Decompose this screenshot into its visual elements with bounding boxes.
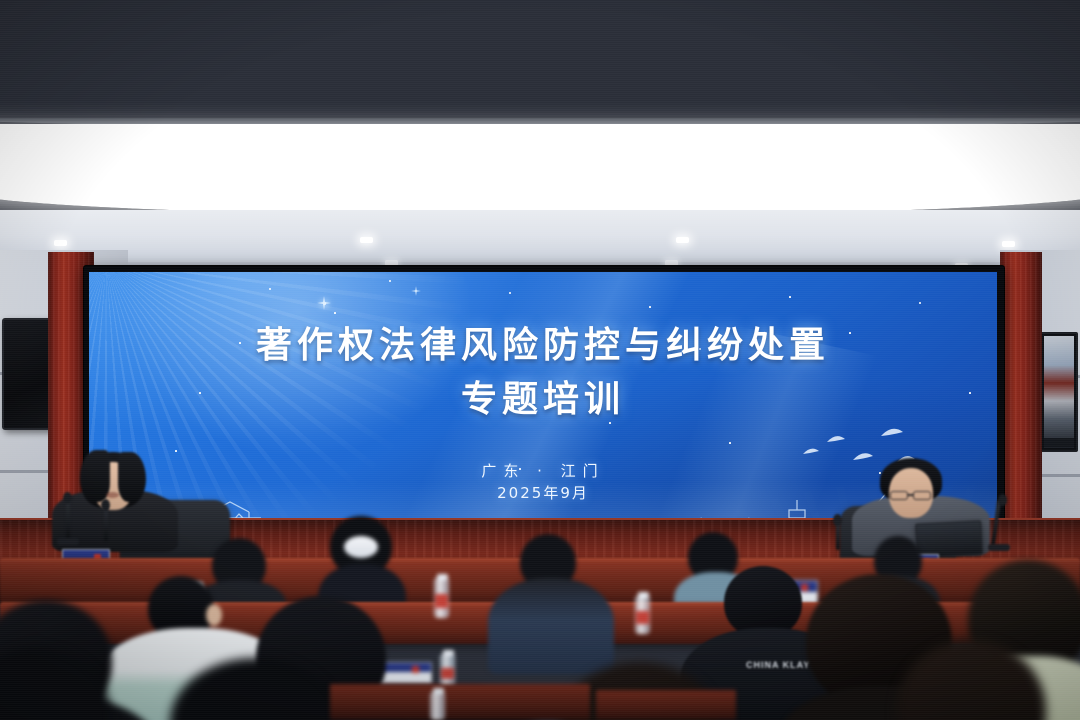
bottle-cap bbox=[433, 688, 444, 694]
audience-bench-front bbox=[330, 684, 590, 720]
screen-title-line-2: 专题培训 bbox=[89, 370, 997, 422]
microphone-base bbox=[988, 544, 1010, 551]
ceiling-downlight bbox=[676, 237, 689, 243]
ear bbox=[206, 604, 222, 626]
audience-bench-front bbox=[596, 690, 736, 720]
bottle-cap bbox=[443, 650, 454, 656]
wall-display-caption bbox=[1044, 438, 1074, 447]
ceiling-upper-surface bbox=[0, 0, 1080, 120]
conference-photo-scene: 著作权法律风险防控与纠纷处置 专题培训 广东 · 江门 2025年9月 bbox=[0, 0, 1080, 720]
microphone-head bbox=[63, 492, 72, 504]
wall-display-image bbox=[1044, 336, 1074, 448]
microphone bbox=[66, 498, 70, 540]
wall-display-right bbox=[1040, 332, 1078, 452]
placard-seal bbox=[412, 666, 419, 673]
water-bottle bbox=[440, 654, 455, 688]
ceiling-downlight bbox=[1002, 241, 1015, 247]
hair-scrunchie bbox=[344, 536, 378, 558]
ceiling-downlight bbox=[54, 240, 67, 246]
microphone-head bbox=[101, 499, 110, 511]
ceiling-downlight bbox=[360, 237, 373, 243]
bottle-label bbox=[435, 594, 448, 608]
microphone-head bbox=[998, 494, 1007, 506]
water-bottle bbox=[635, 596, 650, 634]
laptop-lid bbox=[916, 521, 982, 556]
microphone-head bbox=[833, 514, 842, 526]
water-bottle bbox=[430, 692, 445, 720]
placard-seal bbox=[801, 584, 808, 591]
microphone-base bbox=[57, 538, 79, 545]
water-bottle bbox=[434, 578, 449, 618]
bottle-cap bbox=[437, 574, 448, 580]
bottle-label bbox=[636, 611, 649, 624]
screen-title-line-1: 著作权法律风险防控与纠纷处置 bbox=[89, 316, 997, 368]
bottle-cap bbox=[638, 592, 649, 598]
tshirt-print-text: CHINA KLAY bbox=[746, 660, 810, 670]
glasses-icon bbox=[890, 491, 908, 500]
ceiling-light-band bbox=[0, 124, 1080, 216]
bottle-label bbox=[441, 668, 454, 680]
glasses-icon bbox=[913, 491, 931, 500]
speaker-laptop bbox=[915, 520, 983, 557]
